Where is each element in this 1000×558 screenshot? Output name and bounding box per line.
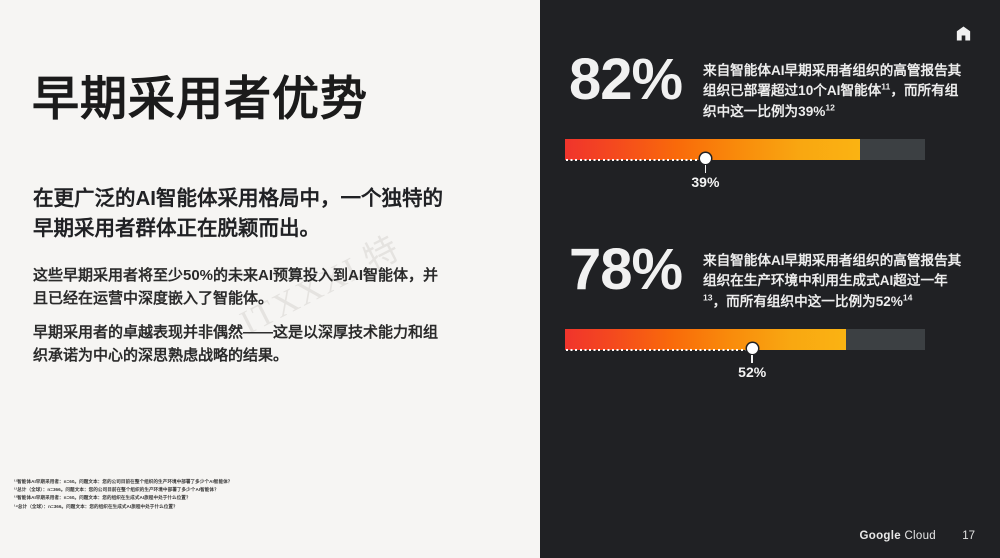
stat-block-78: 78% 来自智能体AI早期采用者组织的高管报告其组织在生产环境中利用生成式AI超… [540, 245, 1000, 391]
progress-fill [565, 139, 860, 160]
page-number: 17 [962, 530, 975, 542]
stat-desc-punct: ，而所有组织中这一比例为 [713, 294, 876, 309]
slide-canvas: ITXXXL特 早期采用者优势 在更广泛的AI智能体采用格局中，一个独特的早期采… [0, 0, 1000, 558]
stat-desc-line: 来自智能体AI早期采用者组织的高管报 [703, 253, 934, 268]
google-cloud-wordmark: Google Cloud [860, 530, 936, 542]
google-cloud-home-icon [954, 24, 973, 43]
lead-paragraph: 在更广泛的AI智能体采用格局中，一个独特的早期采用者群体正在脱颖而出。 [33, 184, 453, 244]
stat-desc-line: 52% [876, 294, 903, 309]
benchmark-marker-tick [705, 165, 707, 173]
stat-desc-punct: ， [890, 83, 904, 98]
progress-bar-area: 52% [565, 329, 925, 391]
stat-header: 78% 来自智能体AI早期采用者组织的高管报告其组织在生产环境中利用生成式AI超… [540, 245, 1000, 329]
right-stats-panel: 82% 来自智能体AI早期采用者组织的高管报告其组织已部署超过10个AI智能体1… [540, 0, 1000, 558]
progress-fill [565, 329, 846, 350]
progress-dotted-guide [566, 159, 706, 161]
stat-description: 来自智能体AI早期采用者组织的高管报告其组织在生产环境中利用生成式AI超过一年1… [703, 251, 965, 312]
benchmark-marker-dot[interactable] [700, 153, 711, 164]
stat-desc-line: 过一年 [907, 273, 948, 288]
footnote-item: ¹⁴总计（全球）：n=366。问题文本：您的组织在生成式AI旅程中处于什么位置？ [14, 503, 434, 511]
footnote-list: ¹¹智能体AI早期采用者：n=60。问题文本：您的公司目前在整个组织的生产环境中… [14, 478, 434, 511]
footnote-ref: 13 [703, 292, 713, 302]
stat-desc-line: 来自智能体AI早期采用者组织的高管报 [703, 63, 934, 78]
stat-description: 来自智能体AI早期采用者组织的高管报告其组织已部署超过10个AI智能体11，而所… [703, 61, 965, 122]
stat-block-82: 82% 来自智能体AI早期采用者组织的高管报告其组织已部署超过10个AI智能体1… [540, 55, 1000, 201]
benchmark-marker-dot[interactable] [747, 343, 758, 354]
footnote-ref: 11 [881, 82, 890, 92]
progress-bar-area: 39% [565, 139, 925, 201]
benchmark-marker-tick [751, 355, 753, 363]
stat-header: 82% 来自智能体AI早期采用者组织的高管报告其组织已部署超过10个AI智能体1… [540, 55, 1000, 139]
progress-dotted-guide [566, 349, 753, 351]
benchmark-marker-label: 39% [691, 174, 719, 190]
stat-value: 78% [569, 241, 682, 299]
footnote-ref: 12 [825, 102, 835, 112]
page-title: 早期采用者优势 [32, 73, 368, 126]
footnote-item: ¹¹智能体AI早期采用者：n=60。问题文本：您的公司目前在整个组织的生产环境中… [14, 478, 434, 486]
stat-value: 82% [569, 51, 682, 109]
left-content-panel: ITXXXL特 早期采用者优势 在更广泛的AI智能体采用格局中，一个独特的早期采… [0, 0, 540, 558]
body-paragraph-2: 早期采用者的卓越表现并非偶然——这是以深厚技术能力和组织承诺为中心的深思熟虑战略… [33, 322, 448, 368]
footnote-item: ¹³智能体AI早期采用者：n=60。问题文本：您的组织在生成式AI旅程中处于什么… [14, 494, 434, 502]
footnote-item: ¹²总计（全球）：n=366。问题文本：您的公司目前在整个组织的生产环境中部署了… [14, 486, 434, 494]
brand-word-google: Google [860, 530, 901, 542]
benchmark-marker-label: 52% [738, 364, 766, 380]
body-paragraph-1: 这些早期采用者将至少50%的未来AI预算投入到AI智能体，并且已经在运营中深度嵌… [33, 265, 448, 311]
brand-word-cloud: Cloud [901, 530, 936, 542]
footnote-ref: 14 [903, 292, 913, 302]
